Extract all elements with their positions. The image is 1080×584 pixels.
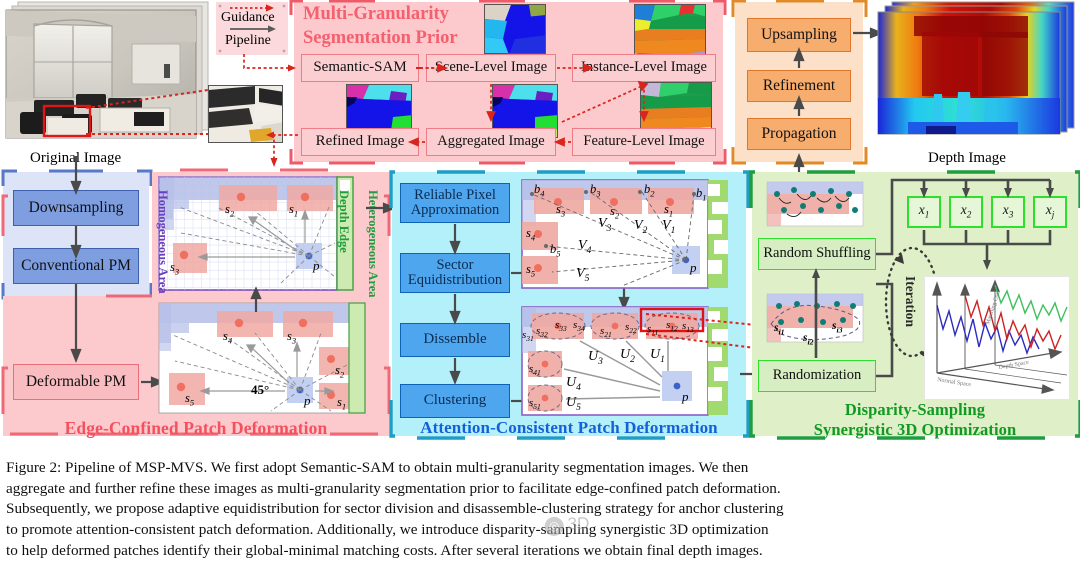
attn-top-s3: s3 (556, 202, 565, 219)
edge-confined-diagram-top: s2 s1 s3 p (159, 177, 353, 290)
node-downsampling[interactable]: Downsampling (13, 190, 139, 226)
depth-image-label: Depth Image (928, 150, 1006, 167)
node-refined[interactable]: Refined Image (301, 128, 419, 156)
node-instance-level-label: Instance-Level Image (581, 60, 707, 75)
attn-bot-s12: s12 (666, 319, 678, 333)
edge-top-label-s2: s2 (225, 202, 234, 219)
figure-root: Original Image Guidance Pipeline (0, 0, 1080, 584)
attn-bot-U1: U1 (650, 347, 665, 365)
edge-bottom-label-s4: s4 (223, 329, 232, 346)
svg-text:Normal Space: Normal Space (937, 377, 972, 388)
attn-top-V1: V1 (662, 218, 675, 236)
node-feature-level-label: Feature-Level Image (583, 134, 704, 149)
coarse-stage-panel: Downsampling Conventional PM (3, 172, 149, 296)
edge-bottom-label-s3: s3 (287, 329, 296, 346)
legend-panel: Guidance Pipeline (216, 2, 288, 55)
attn-top-s5: s5 (526, 262, 535, 279)
attn-bot-U4: U4 (566, 375, 581, 393)
attn-bot-s11: s11 (647, 323, 658, 337)
hypothesis-label-xj: xj (1046, 203, 1055, 220)
node-reliable-pixel-line1: Reliable Pixel (414, 188, 496, 203)
anchor-label-si2: si2 (803, 332, 814, 346)
hypothesis-box-x1[interactable]: x1 (907, 196, 941, 228)
band-heterogeneous-area: Heterogeneous Area (365, 190, 380, 298)
edge-confined-title: Edge-Confined Patch Deformation (3, 418, 389, 439)
attn-bot-s41: s41 (529, 363, 541, 377)
disparity-title-line2: Synergistic 3D Optimization (752, 420, 1078, 440)
attn-top-p: p (690, 260, 697, 276)
node-clustering-label: Clustering (424, 393, 487, 409)
attn-top-V5: V5 (576, 266, 589, 284)
anchor-label-si1: si1 (774, 322, 785, 336)
hypothesis-box-x3[interactable]: x3 (991, 196, 1025, 228)
node-randomization-label: Randomization (773, 368, 862, 383)
hypothesis-label-x1: x1 (919, 203, 930, 220)
edge-bottom-label-s1: s1 (337, 395, 346, 412)
node-refinement[interactable]: Refinement (747, 70, 851, 102)
original-image-stack (4, 2, 214, 150)
hypothesis-label-x2: x2 (961, 203, 972, 220)
node-feature-level[interactable]: Feature-Level Image (572, 128, 716, 156)
node-conventional-pm[interactable]: Conventional PM (13, 248, 139, 284)
attn-bot-s51: s51 (529, 397, 541, 411)
anchor-label-si3: si3 (832, 320, 843, 334)
optimization-3d-plot: Normal Space Depth Space Matching Cost (924, 276, 1070, 400)
attn-top-V3: V3 (598, 216, 611, 234)
node-instance-level[interactable]: Instance-Level Image (572, 54, 716, 82)
node-reliable-pixel-approximation[interactable]: Reliable Pixel Approximation (400, 183, 510, 223)
attn-bot-p: p (682, 389, 689, 405)
caption-line-5: to help deformed patches identify their … (6, 541, 1074, 562)
watermark-text: 3D (567, 514, 589, 534)
attention-diagram-top: b4 b3 b2 b1 b5 s3 s2 s1 s4 s5 V1 V2 V3 V… (522, 180, 740, 288)
node-reliable-pixel-line2: Approximation (411, 203, 500, 218)
attn-top-V2: V2 (634, 218, 647, 236)
node-clustering[interactable]: Clustering (400, 384, 510, 418)
edge-bottom-label-s2: s2 (335, 363, 344, 380)
attn-bot-s34: s34 (573, 319, 585, 333)
attn-bot-s21: s21 (600, 325, 612, 339)
node-downsampling-label: Downsampling (29, 200, 124, 216)
attn-top-b4: b4 (534, 182, 545, 199)
node-dissemble-label: Dissemble (423, 332, 486, 348)
edge-top-label-s3: s3 (170, 260, 179, 277)
legend-guidance-label: Guidance (221, 10, 275, 26)
node-conventional-pm-label: Conventional PM (21, 258, 131, 274)
node-sector-line1: Sector (436, 258, 473, 273)
attention-consistent-title: Attention-Consistent Patch Deformation (392, 418, 746, 438)
depth-image-stack (878, 2, 1076, 150)
node-upsampling-label: Upsampling (761, 27, 837, 43)
node-deformable-pm-label: Deformable PM (26, 374, 126, 390)
shuffled-anchors-thumbnail (767, 182, 863, 226)
hypothesis-box-xj[interactable]: xj (1033, 196, 1067, 228)
caption-line-2: aggregate and further refine these image… (6, 479, 1074, 500)
attn-bot-s31: s31 (522, 329, 534, 343)
attn-top-s1: s1 (664, 202, 673, 219)
node-sector-equidistribution[interactable]: Sector Equidistribution (400, 253, 510, 293)
segmentation-prior-panel: Multi-Granularity Segmentation Prior (294, 2, 723, 162)
edge-bottom-label-p: p (304, 393, 311, 409)
attention-diagram-bottom: s31 s32 s33 s34 s21 s22 s11 s12 s13 s41 … (522, 307, 740, 415)
node-aggregated[interactable]: Aggregated Image (426, 128, 556, 156)
edge-bottom-label-s5: s5 (185, 391, 194, 408)
attn-bot-U2: U2 (620, 347, 635, 365)
node-random-shuffling[interactable]: Random Shuffling (758, 238, 876, 270)
original-image-label: Original Image (30, 150, 121, 167)
attn-bot-U5: U5 (566, 395, 581, 413)
band-depth-edge: Depth Edge (336, 190, 351, 253)
edge-top-label-s1: s1 (289, 202, 298, 219)
svg-text:Matching Cost: Matching Cost (985, 290, 1002, 326)
node-semantic-sam[interactable]: Semantic-SAM (301, 54, 419, 82)
attn-top-s4: s4 (526, 226, 535, 243)
zoom-patch-thumbnail (208, 85, 283, 143)
caption-line-4: to promote attention-consistent patch de… (6, 520, 1074, 541)
segmentation-prior-title-line2: Segmentation Prior (303, 28, 458, 49)
node-scene-level-label: Scene-Level Image (435, 60, 547, 75)
attn-top-b1: b1 (696, 186, 707, 203)
attn-top-s2: s2 (610, 204, 619, 221)
attn-top-V4: V4 (578, 238, 591, 256)
attn-top-b3: b3 (590, 182, 601, 199)
edge-bottom-angle-label: 45° (251, 382, 269, 398)
attn-top-b5: b5 (550, 242, 561, 259)
figure-caption: Figure 2: Pipeline of MSP-MVS. We first … (6, 458, 1074, 561)
attn-bot-s22: s22 (625, 321, 637, 335)
node-dissemble[interactable]: Dissemble (400, 323, 510, 357)
node-random-shuffling-label: Random Shuffling (763, 246, 870, 261)
scene-level-thumbnail (484, 4, 546, 54)
node-randomization[interactable]: Randomization (758, 360, 876, 392)
attn-bot-U3: U3 (588, 349, 603, 367)
node-propagation[interactable]: Propagation (747, 118, 851, 150)
edge-confined-diagram-bottom: s4 s3 s2 s5 s1 p 45° (159, 303, 369, 413)
node-semantic-sam-label: Semantic-SAM (313, 60, 406, 76)
node-upsampling[interactable]: Upsampling (747, 18, 851, 52)
segmentation-prior-title-line1: Multi-Granularity (303, 4, 449, 25)
watermark-icon: ◎ (544, 517, 564, 537)
band-homogeneous-area: Homogeneous Area (155, 190, 170, 294)
hypothesis-box-x2[interactable]: x2 (949, 196, 983, 228)
disparity-title-line1: Disparity-Sampling (752, 400, 1078, 420)
node-propagation-label: Propagation (762, 126, 837, 142)
attn-bot-s32: s32 (536, 325, 548, 339)
caption-line-1: Figure 2: Pipeline of MSP-MVS. We first … (6, 458, 1074, 479)
attn-top-b2: b2 (644, 182, 655, 199)
disparity-sampling-panel: Random Shuffling si1 si2 s (752, 172, 1078, 436)
edge-top-label-p: p (313, 258, 320, 274)
node-aggregated-label: Aggregated Image (437, 134, 545, 149)
attn-bot-s13: s13 (682, 320, 694, 334)
depth-pipeline-panel: Upsampling Refinement Propagation (735, 2, 863, 162)
node-deformable-pm[interactable]: Deformable PM (13, 364, 139, 400)
node-scene-level[interactable]: Scene-Level Image (426, 54, 556, 82)
caption-line-3: Subsequently, we propose adaptive equidi… (6, 499, 1074, 520)
node-sector-line2: Equidistribution (408, 273, 502, 288)
node-refinement-label: Refinement (763, 78, 835, 94)
attn-bot-s33: s33 (555, 319, 567, 333)
iteration-label: Iteration (902, 276, 918, 327)
node-refined-label: Refined Image (316, 134, 405, 150)
legend-pipeline-label: Pipeline (225, 33, 271, 49)
hypothesis-label-x3: x3 (1003, 203, 1014, 220)
